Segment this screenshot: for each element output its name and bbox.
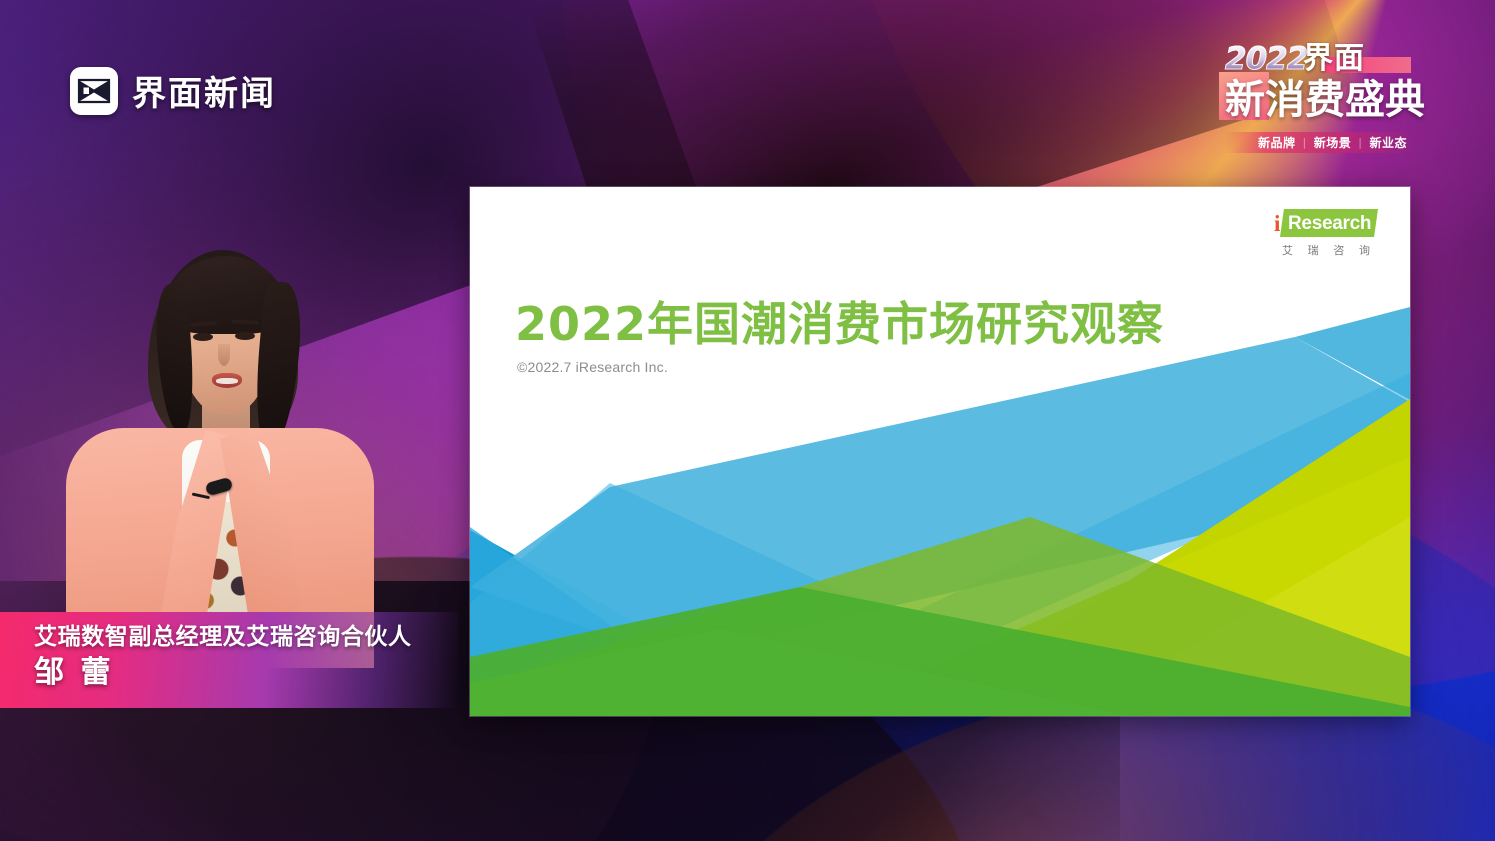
event-badge-title: 新消费盛典 <box>1225 76 1425 124</box>
event-badge-row-year: 2022 界面 <box>1225 38 1411 74</box>
iresearch-cn-char-1: 艾 <box>1282 242 1293 258</box>
speaker-name: 邹 蕾 <box>34 656 458 691</box>
slide-decorative-shapes <box>470 187 1410 716</box>
presentation-slide: 2022年国潮消费市场研究观察 ©2022.7 iResearch Inc. i… <box>470 187 1410 716</box>
event-tagline-item-2: 新场景 <box>1314 134 1352 151</box>
speaker-eye-right <box>235 332 255 340</box>
event-badge-year: 2022 <box>1225 44 1307 75</box>
iresearch-logo-research: Research <box>1288 211 1371 237</box>
event-tagline-separator-2: | <box>1358 136 1362 149</box>
event-tagline-item-3: 新业态 <box>1369 134 1407 151</box>
broadcast-screen: 界面新闻 2022 界面 新消费盛典 新品牌 | 新场景 | 新业态 <box>0 0 1495 841</box>
slide-title: 2022年国潮消费市场研究观察 <box>515 288 1164 354</box>
broadcaster-logo: 界面新闻 <box>70 66 276 115</box>
event-tagline-separator-1: | <box>1303 136 1307 149</box>
iresearch-logo: i Research 艾 瑞 咨 询 <box>1274 209 1378 258</box>
slide-copyright: ©2022.7 iResearch Inc. <box>517 359 668 375</box>
iresearch-cn-char-4: 询 <box>1359 242 1370 258</box>
jiemian-bowtie-icon <box>70 67 118 115</box>
iresearch-logo-chinese: 艾 瑞 咨 询 <box>1274 242 1378 258</box>
broadcaster-name: 界面新闻 <box>132 66 276 115</box>
event-badge-tagline: 新品牌 | 新场景 | 新业态 <box>1225 132 1411 153</box>
speaker-figure <box>60 240 380 660</box>
event-badge: 2022 界面 新消费盛典 新品牌 | 新场景 | 新业态 <box>1225 38 1411 153</box>
speaker-name-banner: 艾瑞数智副总经理及艾瑞咨询合伙人 邹 蕾 <box>0 612 458 708</box>
iresearch-cn-char-2: 瑞 <box>1308 242 1319 258</box>
speaker-nose <box>218 344 230 366</box>
iresearch-logo-i: i <box>1274 211 1280 237</box>
iresearch-logo-wordmark: i Research <box>1274 209 1378 239</box>
event-badge-year-suffix: 界面 <box>1303 44 1365 74</box>
event-tagline-item-1: 新品牌 <box>1258 134 1296 151</box>
speaker-title: 艾瑞数智副总经理及艾瑞咨询合伙人 <box>34 624 458 652</box>
event-badge-row-title: 新消费盛典 <box>1225 76 1411 126</box>
speaker-eye-left <box>193 333 213 341</box>
iresearch-cn-char-3: 咨 <box>1333 242 1344 258</box>
speaker-mouth <box>212 373 242 388</box>
